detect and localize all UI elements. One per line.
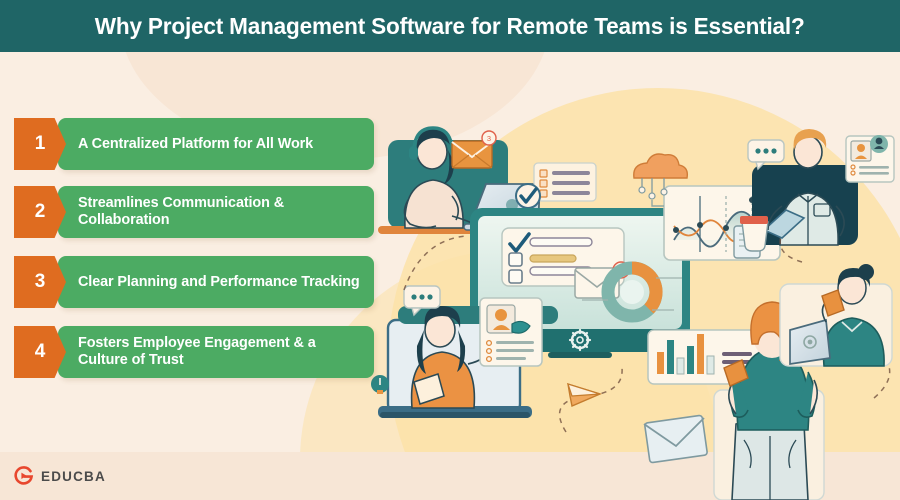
page-title: Why Project Management Software for Remo… — [95, 13, 805, 40]
blue-check-circle — [516, 184, 540, 208]
list-item-label: Fosters Employee Engagement & a Culture … — [58, 335, 374, 369]
list-item-bar[interactable]: Streamlines Communication & Collaboratio… — [58, 186, 374, 238]
benefits-list: 1 A Centralized Platform for All Work 2 … — [14, 118, 374, 396]
list-item[interactable]: 4 Fosters Employee Engagement & a Cultur… — [14, 326, 374, 380]
gear-icon — [570, 330, 590, 350]
list-item-label: A Centralized Platform for All Work — [58, 136, 323, 153]
educba-logo[interactable]: EDUCBA — [14, 466, 106, 486]
educba-mark-icon — [14, 466, 34, 486]
list-item-label: Clear Planning and Performance Tracking — [58, 274, 370, 291]
list-item[interactable]: 3 Clear Planning and Performance Trackin… — [14, 256, 374, 310]
list-item[interactable]: 1 A Centralized Platform for All Work — [14, 118, 374, 170]
header-bar: Why Project Management Software for Remo… — [0, 0, 900, 52]
list-item-bar[interactable]: Clear Planning and Performance Tracking — [58, 256, 374, 308]
envelope-bottom — [644, 415, 708, 463]
educba-wordmark: EDUCBA — [41, 469, 106, 484]
list-item[interactable]: 2 Streamlines Communication & Collaborat… — [14, 186, 374, 240]
paper-plane-icon — [568, 384, 600, 406]
list-item-bar[interactable]: A Centralized Platform for All Work — [58, 118, 374, 170]
woman-with-laptop-scene — [780, 264, 892, 366]
infographic-canvas: 3 — [0, 0, 900, 500]
checklist-card-upper — [534, 163, 596, 201]
orange-envelope-notification: 3 — [452, 131, 496, 168]
chat-bubble-top-right — [748, 140, 784, 169]
profile-id-card-top — [846, 135, 894, 182]
profile-id-card-center — [480, 298, 542, 366]
list-item-bar[interactable]: Fosters Employee Engagement & a Culture … — [58, 326, 374, 378]
svg-text:3: 3 — [487, 134, 491, 143]
list-item-label: Streamlines Communication & Collaboratio… — [58, 195, 374, 229]
